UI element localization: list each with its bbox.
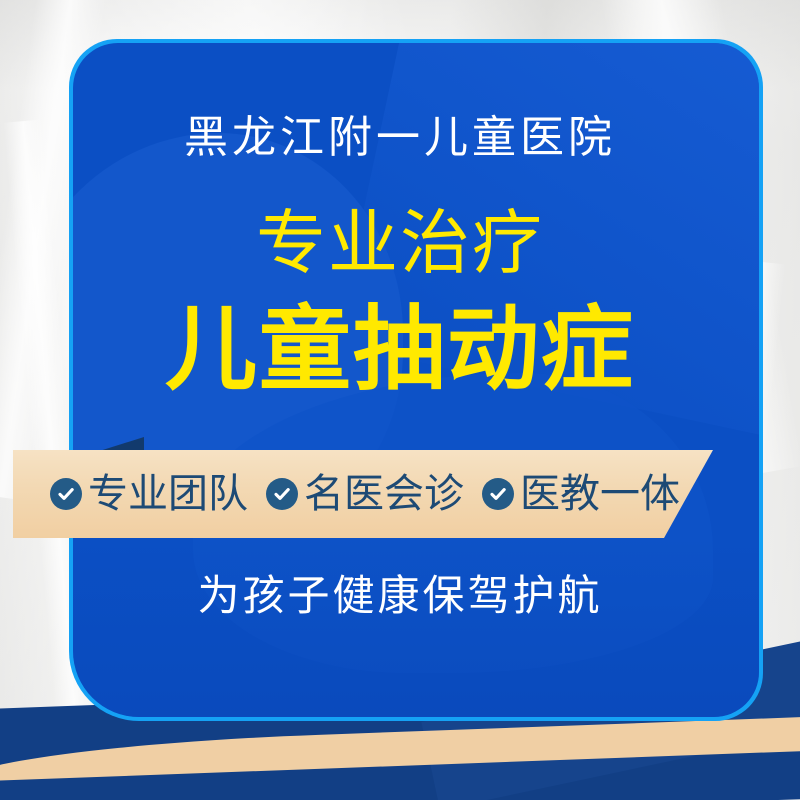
feature-item: 专业团队 [50, 474, 248, 514]
headline-primary: 专业治疗 [0, 205, 800, 282]
poster-canvas: 黑龙江附一儿童医院 专业治疗 儿童抽动症 专业团队 名医会诊 [0, 0, 800, 800]
feature-item: 医教一体 [482, 474, 680, 514]
feature-label: 名医会诊 [304, 474, 464, 514]
feature-label: 专业团队 [88, 474, 248, 514]
headline-secondary: 儿童抽动症 [0, 300, 800, 401]
hospital-name: 黑龙江附一儿童医院 [0, 113, 800, 164]
card-bottom-shade [73, 537, 759, 717]
feature-item: 名医会诊 [266, 474, 464, 514]
check-circle-icon [50, 478, 82, 510]
check-circle-icon [482, 478, 514, 510]
feature-label: 医教一体 [520, 474, 680, 514]
check-circle-icon [266, 478, 298, 510]
feature-ribbon-banner: 专业团队 名医会诊 医教一体 [13, 450, 713, 538]
feature-list: 专业团队 名医会诊 医教一体 [13, 474, 680, 514]
tagline: 为孩子健康保驾护航 [0, 572, 800, 620]
